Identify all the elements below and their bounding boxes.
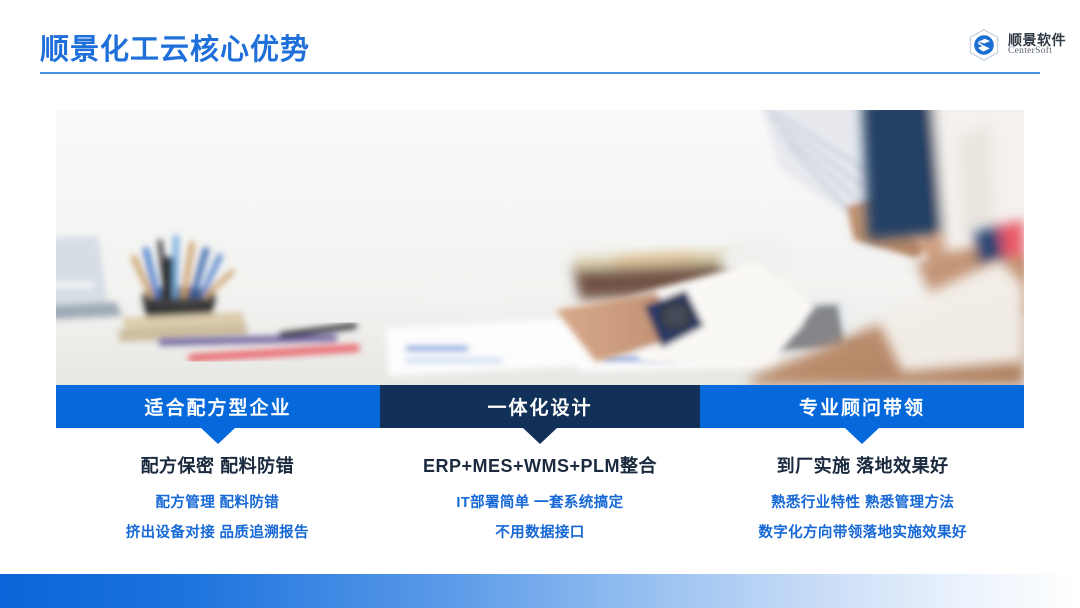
benefit-columns: 配方保密 配料防错 配方管理 配料防错 挤出设备对接 品质追溯报告 ERP+ME… xyxy=(56,452,1024,551)
page-title: 顺景化工云核心优势 xyxy=(40,26,310,68)
pointer-triangle-icon-2 xyxy=(523,428,557,444)
column-2-point-2: 不用数据接口 xyxy=(379,521,702,542)
pointer-triangle-icon-3 xyxy=(845,428,879,444)
hexagon-s-logo-icon xyxy=(967,28,1001,62)
footer-gradient-bar xyxy=(0,574,1080,608)
column-2-point-1: IT部署简单 一套系统搞定 xyxy=(379,491,702,512)
column-1-headline: 配方保密 配料防错 xyxy=(56,452,379,478)
office-desk-illustration xyxy=(56,110,1024,385)
title-divider xyxy=(40,72,1040,74)
logo-en-name: CenterSoft xyxy=(1008,47,1066,57)
column-3-headline: 到厂实施 落地效果好 xyxy=(701,452,1024,478)
column-3-point-1: 熟悉行业特性 熟悉管理方法 xyxy=(701,491,1024,512)
column-2-headline: ERP+MES+WMS+PLM整合 xyxy=(379,452,702,478)
benefit-column-1: 配方保密 配料防错 配方管理 配料防错 挤出设备对接 品质追溯报告 xyxy=(56,452,379,551)
benefit-banner-strip: 适合配方型企业 一体化设计 专业顾问带领 xyxy=(56,385,1024,428)
column-1-point-2: 挤出设备对接 品质追溯报告 xyxy=(56,521,379,542)
column-1-point-1: 配方管理 配料防错 xyxy=(56,491,379,512)
benefit-column-2: ERP+MES+WMS+PLM整合 IT部署简单 一套系统搞定 不用数据接口 xyxy=(379,452,702,551)
logo-text: 顺景软件 CenterSoft xyxy=(1008,33,1066,58)
banner-expert-consultant[interactable]: 专业顾问带领 xyxy=(700,385,1024,428)
benefit-column-3: 到厂实施 落地效果好 熟悉行业特性 熟悉管理方法 数字化方向带领落地实施效果好 xyxy=(701,452,1024,551)
hero-photo xyxy=(56,110,1024,385)
pointer-triangle-icon-1 xyxy=(201,428,235,444)
banner-integrated-design[interactable]: 一体化设计 xyxy=(380,385,700,428)
banner-formula-enterprise[interactable]: 适合配方型企业 xyxy=(56,385,380,428)
column-3-point-2: 数字化方向带领落地实施效果好 xyxy=(701,521,1024,542)
brand-logo: 顺景软件 CenterSoft xyxy=(967,28,1066,62)
